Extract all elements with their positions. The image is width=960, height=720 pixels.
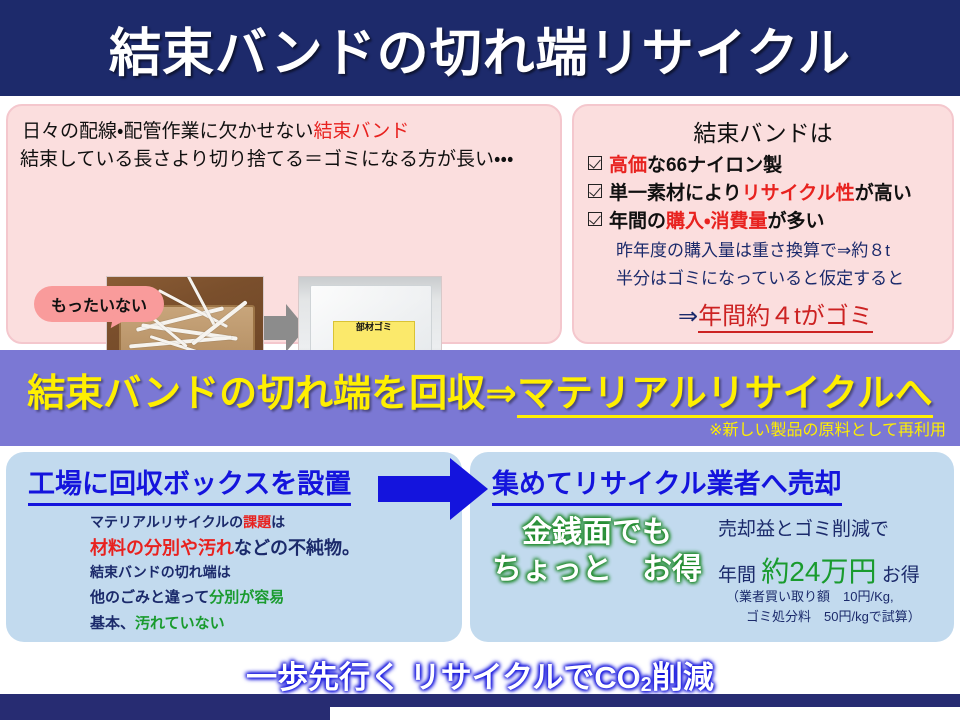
bottom-right-line2-b: お得 (882, 565, 920, 586)
bottom-left-line2: 材料の分別や汚れなどの不純物。 (90, 534, 360, 560)
checklist-item-2-highlight: リサイクル性 (742, 183, 855, 204)
footer-slogan: 一歩先行く リサイクルでCO2削減 (0, 652, 960, 697)
bottom-left-line5-highlight: 汚れていない (135, 615, 225, 632)
title-bar: 結束バンドの切れ端リサイクル (0, 0, 960, 96)
right-panel-result-value: 年間約４tがゴミ (698, 303, 873, 333)
checklist-item-1-highlight: 高価 (609, 155, 647, 176)
right-panel-result-prefix: ⇒ (678, 303, 698, 330)
checklist-item-1-rest: な66ナイロン製 (647, 155, 782, 176)
panel-cable-tie-facts: 結束バンドは 高価な66ナイロン製 単一素材によりリサイクル性が高い 年間の購入… (572, 104, 954, 344)
footer-bar-top (0, 694, 960, 707)
speech-bubble-text: もったいない (51, 292, 147, 316)
checklist-item-3-rest: が多い (767, 211, 824, 232)
checklist-item-2-lead: 単一素材により (609, 183, 742, 204)
slide-canvas: 結束バンドの切れ端リサイクル 日々の配線・配管作業に欠かせない結束バンド 結束し… (0, 0, 960, 720)
bottom-right-line2: 年間 約24万円 お得 (718, 550, 920, 590)
money-callout-line1: 金銭面でも (492, 514, 702, 551)
panel-sell-to-recycler: 集めてリサイクル業者へ売却 金銭面でも ちょっと お得 売却益とゴミ削減で 年間… (470, 452, 954, 642)
checklist-item-1: 高価な66ナイロン製 (588, 150, 782, 177)
bottom-left-line1-highlight: 課題 (243, 514, 271, 530)
bottom-left-line1-c: は (271, 514, 285, 530)
footer-slogan-a: 一歩先行く リサイクルでCO (246, 660, 641, 695)
left-panel-line2: 結束している長さより切り捨てる＝ゴミになる方が長い・・・ (20, 144, 513, 171)
bottom-left-line5: 基本、汚れていない (90, 612, 225, 633)
waste-label-text: 部材ゴミ (356, 322, 392, 333)
banner-heading-a: 結束バンドの切れ端を回収⇒ (27, 373, 517, 415)
bottom-left-line2-highlight: 材料の分別や汚れ (90, 538, 234, 558)
bottom-left-line5-a: 基本、 (90, 615, 135, 632)
footer-slogan-b: 削減 (652, 660, 714, 695)
panel-current-situation: 日々の配線・配管作業に欠かせない結束バンド 結束している長さより切り捨てる＝ゴミ… (6, 104, 562, 344)
bottom-left-line4-highlight: 分別が容易 (209, 589, 284, 606)
bottom-left-line4-a: 他のごみと違って (90, 589, 209, 606)
bottom-left-line1-a: マテリアルリサイクルの (90, 514, 243, 530)
checklist-item-3-highlight: 購入・消費量 (666, 211, 767, 232)
checklist-item-3: 年間の購入・消費量が多い (588, 206, 825, 233)
bottom-right-line2-a: 年間 (718, 565, 756, 586)
checkbox-checked-icon (588, 184, 602, 198)
page-title: 結束バンドの切れ端リサイクル (109, 11, 851, 86)
checkbox-checked-icon (588, 156, 602, 170)
bottom-right-amount: 約24万円 (761, 556, 876, 587)
bottom-right-line1: 売却益とゴミ削減で (718, 514, 889, 541)
bottom-right-heading: 集めてリサイクル業者へ売却 (492, 462, 842, 506)
banner-heading: 結束バンドの切れ端を回収⇒マテリアルリサイクルへ (0, 362, 960, 417)
right-panel-heading: 結束バンドは (574, 114, 952, 148)
blue-right-arrow-icon (378, 458, 488, 520)
bottom-left-line1: マテリアルリサイクルの課題は (90, 512, 285, 532)
right-panel-sub1: 昨年度の購入量は重さ換算で⇒約８t (616, 236, 890, 261)
checklist-item-3-lead: 年間の (609, 211, 666, 232)
bottom-left-line3: 結束バンドの切れ端は (90, 562, 231, 582)
footer-bar-bottom (0, 707, 330, 720)
bottom-right-note1: （業者買い取り額 10円/Kg, (726, 586, 894, 605)
banner-heading-b: マテリアルリサイクルへ (517, 373, 933, 418)
checkbox-checked-icon (588, 212, 602, 226)
left-panel-line1: 日々の配線・配管作業に欠かせない結束バンド (22, 116, 409, 143)
left-panel-line1-highlight: 結束バンド (313, 121, 409, 142)
footer-slogan-subscript: 2 (641, 674, 652, 696)
money-callout-line2: ちょっと お得 (492, 551, 702, 588)
banner-material-recycle: 結束バンドの切れ端を回収⇒マテリアルリサイクルへ ※新しい製品の原料として再利用 (0, 350, 960, 446)
bottom-right-note2: ゴミ処分料 50円/kgで試算） (746, 606, 921, 625)
bottom-left-line2-b: などの不純物。 (234, 538, 360, 558)
speech-bubble-mottainai: もったいない (34, 286, 164, 322)
bottom-left-line4: 他のごみと違って分別が容易 (90, 586, 284, 607)
checklist-item-2: 単一素材によりリサイクル性が高い (588, 178, 912, 205)
right-panel-result: ⇒年間約４tがゴミ (678, 296, 873, 331)
checklist-item-2-rest: が高い (855, 183, 912, 204)
money-callout: 金銭面でも ちょっと お得 (492, 514, 702, 588)
waste-label-tag: 部材ゴミ (333, 321, 415, 353)
right-panel-sub2: 半分はゴミになっていると仮定すると (616, 264, 904, 289)
left-panel-line1-a: 日々の配線・配管作業に欠かせない (22, 121, 313, 142)
bottom-left-heading: 工場に回収ボックスを設置 (28, 462, 351, 506)
banner-footnote: ※新しい製品の原料として再利用 (709, 416, 946, 440)
